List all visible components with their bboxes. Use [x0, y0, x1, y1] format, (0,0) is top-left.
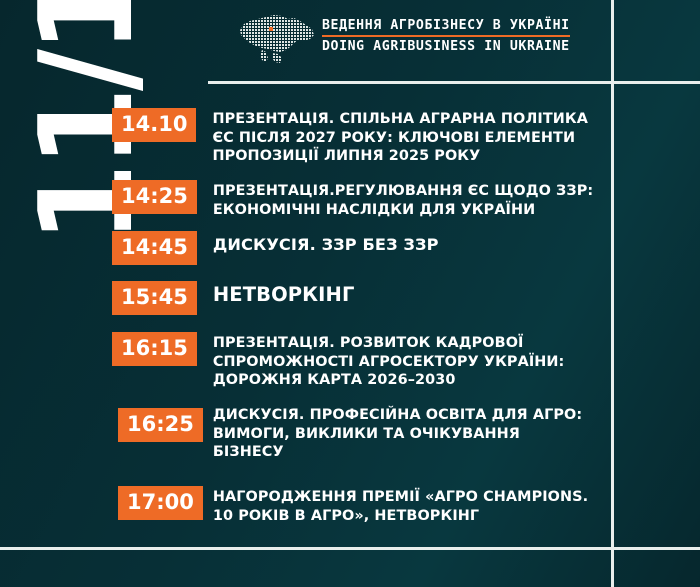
ukraine-map-icon — [228, 8, 320, 70]
agenda-session-title: ПРЕЗЕНТАЦІЯ. РОЗВИТОК КАДРОВОЇ СПРОМОЖНО… — [213, 334, 605, 390]
agenda-time-badge: 14.10 — [112, 108, 196, 142]
brand-logo: ВЕДЕННЯ АГРОБІЗНЕСУ В УКРАЇНІ DOING AGRI… — [228, 8, 600, 74]
agenda-session-title: ДИСКУСІЯ. ПРОФЕСІЙНА ОСВІТА ДЛЯ АГРО: ВИ… — [213, 406, 605, 462]
agenda-row: 17:00 НАГОРОДЖЕННЯ ПРЕМІЇ «АГРО CHAMPION… — [118, 486, 613, 525]
agenda-time-badge: 14:25 — [112, 180, 197, 214]
agenda-time-badge: 16:25 — [118, 408, 203, 442]
agenda-session-title: ДИСКУСІЯ. ЗЗР БЕЗ ЗЗР — [213, 235, 605, 255]
bottom-horizontal-rule — [0, 547, 700, 550]
brand-divider — [322, 35, 570, 37]
agenda-row: 14.10 ПРЕЗЕНТАЦІЯ. СПІЛЬНА АГРАРНА ПОЛІТ… — [112, 108, 604, 166]
agenda-session-title: ПРЕЗЕНТАЦІЯ.РЕГУЛЮВАННЯ ЄС ЩОДО ЗЗР: ЕКО… — [213, 182, 605, 219]
brand-title-en: DOING AGRIBUSINESS IN UKRAINE — [322, 39, 570, 54]
agenda-session-title: НЕТВОРКІНГ — [213, 283, 605, 306]
header-divider-rule — [208, 81, 700, 84]
agenda-row: 16:15 ПРЕЗЕНТАЦІЯ. РОЗВИТОК КАДРОВОЇ СПР… — [112, 332, 605, 390]
event-agenda-poster: 11/12 — [0, 0, 700, 587]
agenda-row: 14:45 ДИСКУСІЯ. ЗЗР БЕЗ ЗЗР — [112, 231, 605, 265]
agenda-time-badge: 17:00 — [118, 486, 203, 520]
agenda-time-badge: 14:45 — [112, 231, 197, 265]
brand-titles: ВЕДЕННЯ АГРОБІЗНЕСУ В УКРАЇНІ DOING AGRI… — [322, 8, 570, 54]
agenda-session-title: ПРЕЗЕНТАЦІЯ. СПІЛЬНА АГРАРНА ПОЛІТИКА ЄС… — [212, 110, 604, 166]
brand-title-ua: ВЕДЕННЯ АГРОБІЗНЕСУ В УКРАЇНІ — [322, 18, 570, 33]
agenda-time-badge: 16:15 — [112, 332, 197, 366]
agenda-row: 15:45 НЕТВОРКІНГ — [112, 281, 605, 315]
agenda-row: 16:25 ДИСКУСІЯ. ПРОФЕСІЙНА ОСВІТА ДЛЯ АГ… — [118, 408, 605, 462]
agenda-row: 14:25 ПРЕЗЕНТАЦІЯ.РЕГУЛЮВАННЯ ЄС ЩОДО ЗЗ… — [112, 180, 605, 219]
agenda-time-badge: 15:45 — [112, 281, 197, 315]
agenda-session-title: НАГОРОДЖЕННЯ ПРЕМІЇ «АГРО CHAMPIONS. 10 … — [213, 488, 613, 525]
kyiv-dot-icon — [269, 27, 273, 31]
